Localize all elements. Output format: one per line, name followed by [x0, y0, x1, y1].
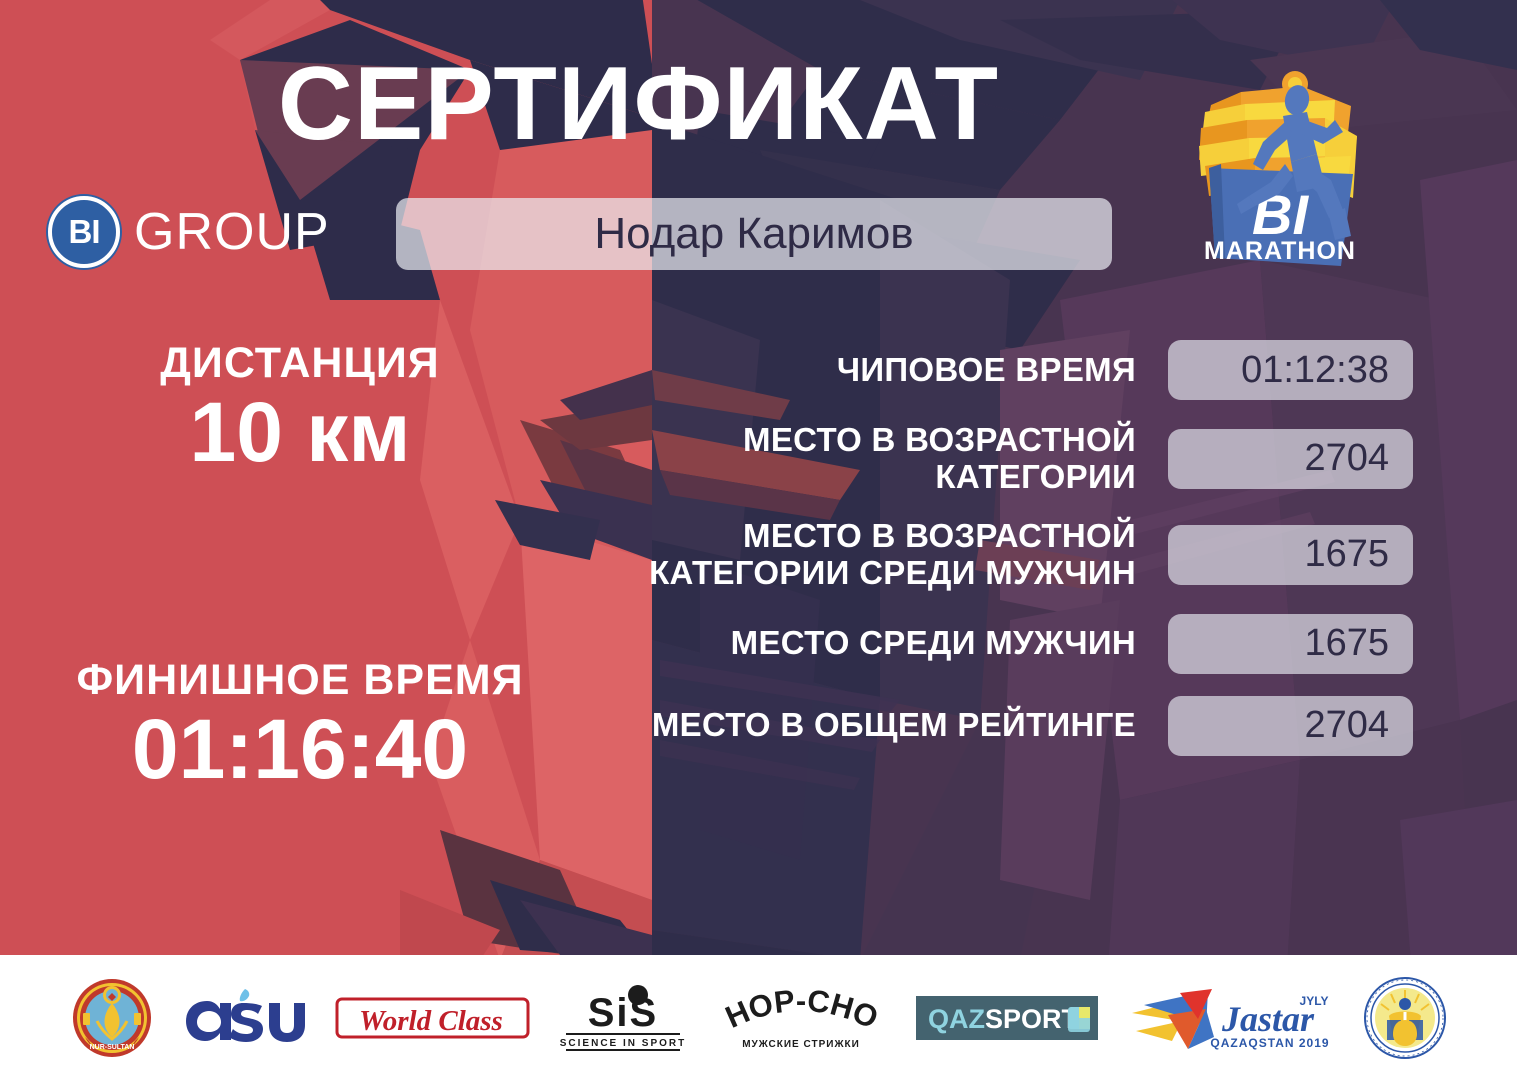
bi-badge-icon: BI	[48, 196, 120, 268]
sponsor-ministry	[1363, 976, 1447, 1060]
nur-sultan-emblem-icon: NUR-SULTAN	[71, 977, 153, 1059]
stat-chip-time-value: 01:12:38	[1168, 340, 1413, 400]
world-class-logo-icon: World Class	[335, 989, 530, 1047]
nur-sultan-label: NUR-SULTAN	[89, 1044, 134, 1051]
bi-group-logo: BI GROUP	[48, 196, 330, 268]
stat-distance: ДИСТАНЦИЯ 10 км	[0, 340, 600, 479]
qazsport-logo-icon: QAZSPORT	[916, 996, 1098, 1040]
sis-tagline: SCIENCE IN SPORT	[560, 1038, 686, 1049]
stat-age-category-place-value: 2704	[1168, 429, 1413, 489]
sponsor-asu	[183, 987, 305, 1049]
qazaqstan-2019-label: QAZAQSTAN 2019	[1210, 1036, 1329, 1050]
stat-finish-time-value: 01:16:40	[0, 703, 600, 795]
sponsor-qazsport: QAZSPORT	[916, 996, 1098, 1040]
certificate-canvas: СЕРТИФИКАТ BI GROUP Нодар Каримов	[0, 0, 1517, 1080]
sponsor-nur-sultan: NUR-SULTAN	[71, 977, 153, 1059]
stat-overall-place-label: МЕСТО В ОБЩЕМ РЕЙТИНГЕ	[652, 707, 1136, 744]
sis-label: SiS	[587, 991, 657, 1035]
stat-distance-value: 10 км	[0, 386, 600, 478]
sponsor-world-class: World Class	[335, 989, 530, 1047]
asu-logo-icon	[183, 987, 305, 1049]
stat-row-age-category-place: МЕСТО В ВОЗРАСТНОЙ КАТЕГОРИИ 2704	[520, 422, 1413, 496]
stat-row-age-category-men-place: МЕСТО В ВОЗРАСТНОЙ КАТЕГОРИИ СРЕДИ МУЖЧИ…	[520, 518, 1413, 592]
stat-row-chip-time: ЧИПОВОЕ ВРЕМЯ 01:12:38	[520, 340, 1413, 400]
stat-men-place-value: 1675	[1168, 614, 1413, 674]
stat-age-category-men-place-label: МЕСТО В ВОЗРАСТНОЙ КАТЕГОРИИ СРЕДИ МУЖЧИ…	[576, 518, 1136, 592]
sponsor-jastar-jyly: Jastar JYLY QAZAQSTAN 2019	[1128, 979, 1333, 1057]
sis-logo-icon: SiS SCIENCE IN SPORT	[560, 984, 686, 1052]
stat-age-category-men-place-value: 1675	[1168, 525, 1413, 585]
sponsor-chop-chop: CHOP-CHOP МУЖСКИЕ СТРИЖКИ	[716, 985, 886, 1051]
left-stats-column: ДИСТАНЦИЯ 10 км ФИНИШНОЕ ВРЕМЯ 01:16:40	[0, 340, 600, 796]
stat-finish-time-label: ФИНИШНОЕ ВРЕМЯ	[0, 657, 600, 703]
sponsor-strip: NUR-SULTAN World Class SiS	[0, 955, 1517, 1080]
bi-group-wordmark: GROUP	[134, 202, 330, 262]
jastar-jyly-logo-icon: Jastar JYLY QAZAQSTAN 2019	[1128, 979, 1333, 1057]
stat-chip-time-label: ЧИПОВОЕ ВРЕМЯ	[837, 352, 1136, 389]
participant-name: Нодар Каримов	[594, 209, 913, 259]
participant-name-plate: Нодар Каримов	[396, 198, 1112, 270]
marathon-word-text: MARATHON	[1204, 237, 1356, 265]
stat-age-category-place-label: МЕСТО В ВОЗРАСТНОЙ КАТЕГОРИИ	[576, 422, 1136, 496]
world-class-label: World Class	[359, 1005, 503, 1037]
stat-distance-label: ДИСТАНЦИЯ	[0, 340, 600, 386]
chop-chop-label: CHOP-CHOP	[716, 985, 883, 1036]
chop-chop-logo-icon: CHOP-CHOP МУЖСКИЕ СТРИЖКИ	[716, 985, 886, 1051]
right-stats-column: ЧИПОВОЕ ВРЕМЯ 01:12:38 МЕСТО В ВОЗРАСТНО…	[520, 340, 1413, 756]
stat-overall-place-value: 2704	[1168, 696, 1413, 756]
stat-row-men-place: МЕСТО СРЕДИ МУЖЧИН 1675	[520, 614, 1413, 674]
bi-marathon-logo: BI MARATHON	[1175, 58, 1380, 303]
jyly-label: JYLY	[1299, 994, 1328, 1008]
stat-row-overall-place: МЕСТО В ОБЩЕМ РЕЙТИНГЕ 2704	[520, 696, 1413, 756]
stat-men-place-label: МЕСТО СРЕДИ МУЖЧИН	[731, 625, 1136, 662]
chop-chop-tagline: МУЖСКИЕ СТРИЖКИ	[742, 1039, 860, 1050]
ministry-emblem-icon	[1363, 976, 1447, 1060]
qazsport-label: QAZSPORT	[928, 1004, 1079, 1034]
sponsor-sis: SiS SCIENCE IN SPORT	[560, 984, 686, 1052]
stat-finish-time: ФИНИШНОЕ ВРЕМЯ 01:16:40	[0, 657, 600, 796]
